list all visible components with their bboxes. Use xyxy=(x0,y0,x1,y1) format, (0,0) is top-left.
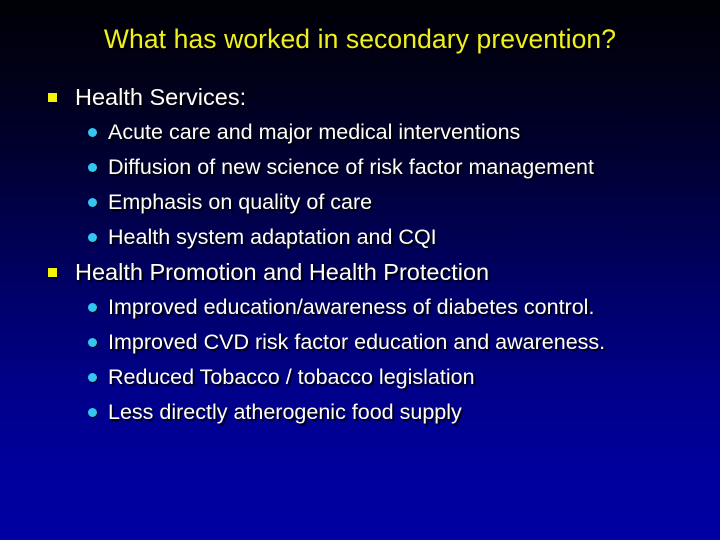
round-bullet-icon xyxy=(88,233,97,242)
round-bullet-icon xyxy=(88,128,97,137)
slide-body-content: Health Services: Acute care and major me… xyxy=(0,80,720,430)
bullet-text: Reduced Tobacco / tobacco legislation xyxy=(108,365,475,389)
bullet-item-level2: Health system adaptation and CQI xyxy=(0,220,720,255)
square-bullet-icon xyxy=(48,268,57,277)
page-title: What has worked in secondary prevention? xyxy=(104,24,616,55)
bullet-text: Health Services: xyxy=(75,84,246,110)
round-bullet-icon xyxy=(88,198,97,207)
round-bullet-icon xyxy=(88,303,97,312)
bullet-item-level2: Diffusion of new science of risk factor … xyxy=(0,150,720,185)
round-bullet-icon xyxy=(88,373,97,382)
round-bullet-icon xyxy=(88,338,97,347)
bullet-text: Improved CVD risk factor education and a… xyxy=(108,330,605,354)
bullet-text: Emphasis on quality of care xyxy=(108,190,372,214)
bullet-item-level2: Improved education/awareness of diabetes… xyxy=(0,290,720,325)
bullet-text: Acute care and major medical interventio… xyxy=(108,120,520,144)
bullet-text: Health system adaptation and CQI xyxy=(108,225,437,249)
bullet-item-level2: Improved CVD risk factor education and a… xyxy=(0,325,720,360)
round-bullet-icon xyxy=(88,163,97,172)
bullet-text: Health Promotion and Health Protection xyxy=(75,259,489,285)
bullet-item-level2: Reduced Tobacco / tobacco legislation xyxy=(0,360,720,395)
bullet-text: Improved education/awareness of diabetes… xyxy=(108,295,594,319)
bullet-item-level2: Acute care and major medical interventio… xyxy=(0,115,720,150)
presentation-slide: What has worked in secondary prevention?… xyxy=(0,0,720,540)
round-bullet-icon xyxy=(88,408,97,417)
bullet-text: Less directly atherogenic food supply xyxy=(108,400,462,424)
bullet-item-level2: Less directly atherogenic food supply xyxy=(0,395,720,430)
square-bullet-icon xyxy=(48,93,57,102)
bullet-text: Diffusion of new science of risk factor … xyxy=(108,155,594,179)
bullet-item-level1: Health Services: xyxy=(0,80,720,115)
bullet-item-level2: Emphasis on quality of care xyxy=(0,185,720,220)
bullet-item-level1: Health Promotion and Health Protection xyxy=(0,255,720,290)
slide-title-area: What has worked in secondary prevention? xyxy=(0,24,720,55)
